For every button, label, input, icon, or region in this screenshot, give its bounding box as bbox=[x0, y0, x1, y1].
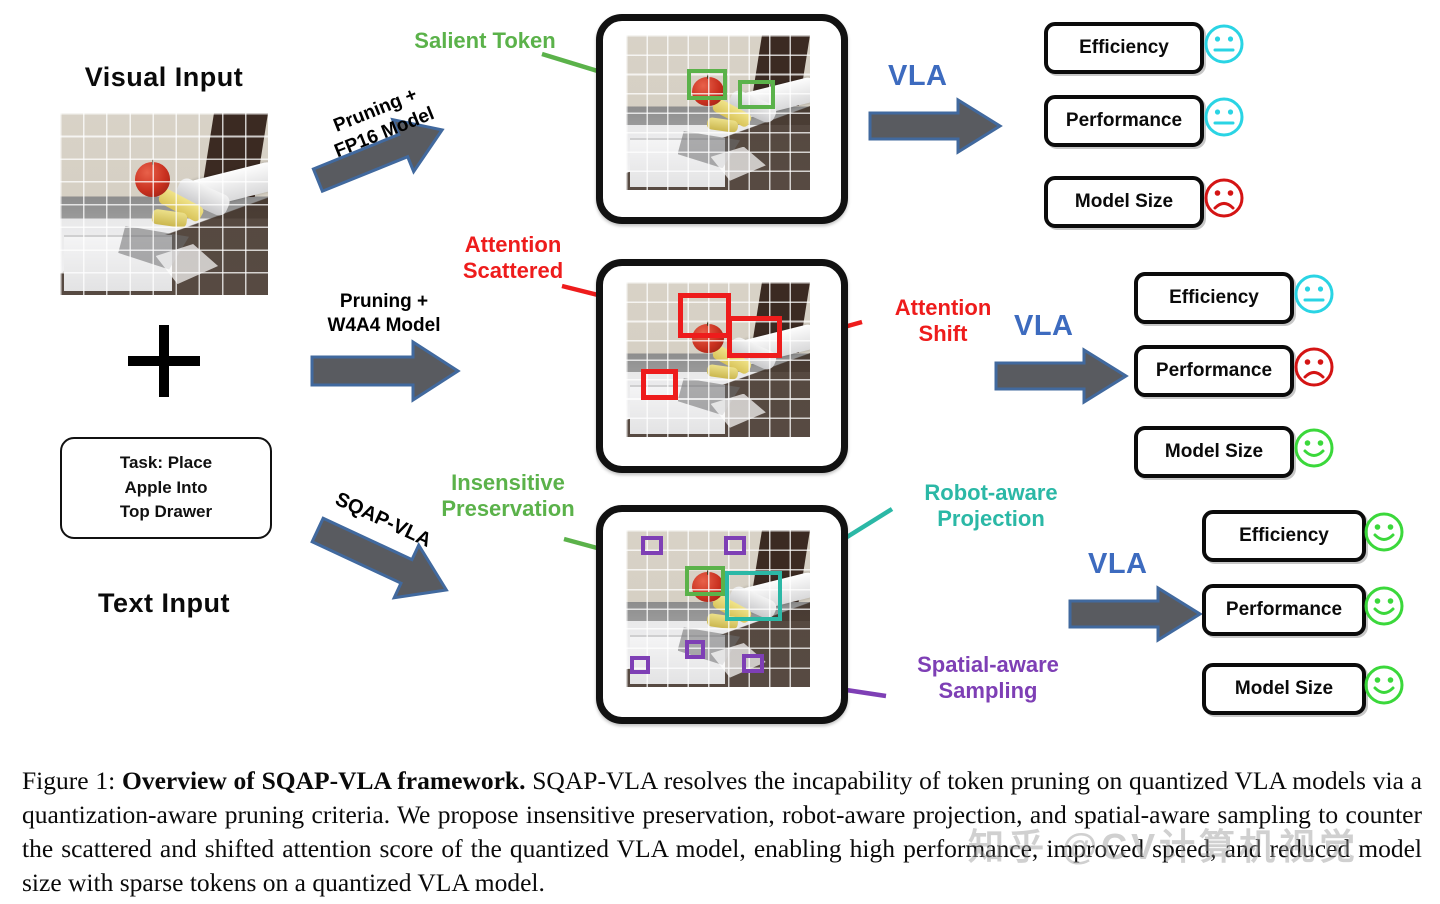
screen-w4a4-image bbox=[626, 282, 810, 437]
spatial-aware-sampling-callout: Spatial-aware Sampling bbox=[880, 652, 1096, 704]
scattered-attention-box-2 bbox=[727, 316, 782, 358]
vla-arrow-2 bbox=[994, 348, 1128, 404]
outcome-label: Efficiency bbox=[1239, 525, 1329, 547]
insensitive-preservation-line1: Insensitive bbox=[402, 470, 614, 496]
attention-shift-callout: Attention Shift bbox=[848, 295, 1038, 347]
outcome-card-modelsize-fp16: Model Size bbox=[1044, 176, 1204, 228]
insensitive-preservation-line2: Preservation bbox=[402, 496, 614, 522]
outcome-card-performance-fp16: Performance bbox=[1044, 95, 1204, 147]
scattered-attention-box-3 bbox=[641, 369, 678, 400]
outcome-card-efficiency-sqap: Efficiency bbox=[1202, 510, 1366, 562]
plus-icon bbox=[128, 325, 200, 397]
vla-arrow-label-1: VLA bbox=[888, 60, 948, 93]
happy-face-icon bbox=[1362, 510, 1406, 559]
outcome-card-modelsize-w4a4: Model Size bbox=[1134, 426, 1294, 478]
neutral-face-icon bbox=[1292, 272, 1336, 321]
token-grid-overlay bbox=[626, 35, 810, 190]
spatial-aware-sampling-line1: Spatial-aware bbox=[880, 652, 1096, 678]
robot-aware-projection-box bbox=[725, 571, 782, 621]
spatial-sample-box-5 bbox=[742, 654, 764, 673]
outcome-label: Model Size bbox=[1075, 191, 1173, 213]
outcome-card-modelsize-sqap: Model Size bbox=[1202, 663, 1366, 715]
figure-canvas: Visual Input Task: Place Apple Into Top … bbox=[0, 0, 1440, 760]
spatial-sample-box-4 bbox=[685, 640, 705, 659]
pruning-w4a4-line1: Pruning + bbox=[300, 290, 468, 314]
outcome-label: Efficiency bbox=[1079, 37, 1169, 59]
spatial-sample-box-1 bbox=[641, 536, 663, 555]
screen-sqap-vla bbox=[596, 505, 848, 724]
sad-face-icon bbox=[1292, 345, 1336, 394]
visual-input-image bbox=[60, 113, 268, 295]
happy-face-icon bbox=[1362, 663, 1406, 712]
outcome-card-efficiency-w4a4: Efficiency bbox=[1134, 272, 1294, 324]
screen-sqap-vla-image bbox=[626, 530, 810, 687]
screen-w4a4 bbox=[596, 259, 848, 473]
attention-scattered-callout: Attention Scattered bbox=[420, 232, 606, 284]
vla-arrow-3 bbox=[1068, 586, 1202, 642]
screen-fp16 bbox=[596, 14, 848, 224]
vla-arrow-label-2: VLA bbox=[1014, 310, 1074, 343]
neutral-face-icon bbox=[1202, 22, 1246, 71]
outcome-label: Model Size bbox=[1165, 441, 1263, 463]
task-line-1: Task: Place bbox=[120, 451, 212, 476]
screen-fp16-image bbox=[626, 35, 810, 190]
insensitive-preservation-callout: Insensitive Preservation bbox=[402, 470, 614, 522]
spatial-aware-sampling-line2: Sampling bbox=[880, 678, 1096, 704]
pruning-w4a4-arrow-label: Pruning + W4A4 Model bbox=[300, 290, 468, 338]
outcome-card-performance-sqap: Performance bbox=[1202, 584, 1366, 636]
neutral-face-icon bbox=[1202, 95, 1246, 144]
token-grid-overlay bbox=[60, 113, 268, 295]
vla-arrow-label-3: VLA bbox=[1088, 548, 1148, 581]
scattered-attention-box-1 bbox=[678, 293, 731, 338]
attention-shift-line1: Attention bbox=[848, 295, 1038, 321]
spatial-sample-box-2 bbox=[724, 536, 746, 555]
robot-aware-projection-line1: Robot-aware bbox=[888, 480, 1094, 506]
outcome-label: Performance bbox=[1156, 360, 1272, 382]
task-text-box: Task: Place Apple Into Top Drawer bbox=[60, 437, 272, 539]
task-line-3: Top Drawer bbox=[120, 500, 212, 525]
happy-face-icon bbox=[1292, 426, 1336, 475]
task-line-2: Apple Into bbox=[124, 476, 207, 501]
outcome-label: Model Size bbox=[1235, 678, 1333, 700]
sad-face-icon bbox=[1202, 176, 1246, 225]
text-input-title: Text Input bbox=[44, 588, 284, 619]
pruning-w4a4-line2: W4A4 Model bbox=[300, 314, 468, 338]
happy-face-icon bbox=[1362, 584, 1406, 633]
robot-aware-projection-line2: Projection bbox=[888, 506, 1094, 532]
attention-scattered-line1: Attention bbox=[420, 232, 606, 258]
salient-token-box-apple bbox=[687, 69, 727, 100]
robot-aware-projection-callout: Robot-aware Projection bbox=[888, 480, 1094, 532]
figure-caption: Figure 1: Overview of SQAP-VLA framework… bbox=[22, 764, 1422, 901]
salient-token-box-gripper bbox=[738, 80, 775, 109]
spatial-sample-box-3 bbox=[630, 656, 650, 675]
outcome-card-performance-w4a4: Performance bbox=[1134, 345, 1294, 397]
outcome-label: Performance bbox=[1066, 110, 1182, 132]
vla-arrow-1 bbox=[868, 98, 1002, 154]
outcome-label: Performance bbox=[1226, 599, 1342, 621]
outcome-card-efficiency-fp16: Efficiency bbox=[1044, 22, 1204, 74]
visual-input-title: Visual Input bbox=[44, 62, 284, 93]
attention-shift-line2: Shift bbox=[848, 321, 1038, 347]
insensitive-preservation-box bbox=[685, 566, 725, 596]
outcome-label: Efficiency bbox=[1169, 287, 1259, 309]
pruning-w4a4-arrow bbox=[310, 340, 460, 402]
caption-prefix: Figure 1: bbox=[22, 766, 122, 795]
caption-bold-title: Overview of SQAP-VLA framework. bbox=[122, 766, 525, 795]
